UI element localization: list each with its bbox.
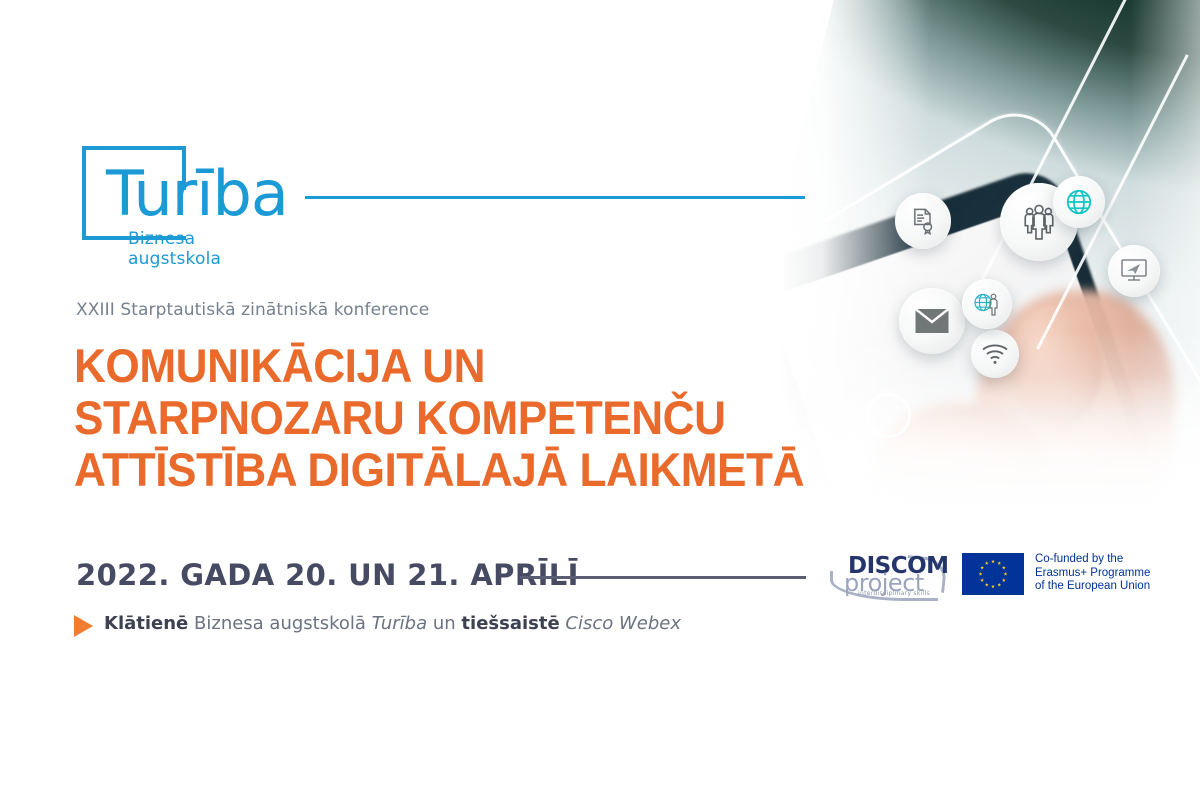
venue-onsite-place-italic: Turība (372, 613, 427, 634)
title-line-2: STARPNOZARU KOMPETENČU (74, 392, 788, 444)
thumb-shape (1006, 301, 1106, 431)
phone-screen (780, 200, 1155, 560)
conference-poster: Turība Biznesa augstskola XXIII Starptau… (0, 0, 1200, 799)
bubble-envelope (899, 288, 965, 354)
page-title: KOMUNIKĀCIJA UN STARPNOZARU KOMPETENČU A… (74, 340, 788, 496)
bubble-globe (1053, 176, 1105, 228)
outline-fade-mask (780, 375, 1200, 560)
conference-kicker: XXIII Starptautiskā zinātniskā konferenc… (76, 300, 429, 320)
venue-conjunction: un (433, 613, 456, 634)
eu-star-icon (997, 561, 1001, 565)
eu-star-icon (980, 578, 984, 582)
phone-body (780, 162, 1160, 560)
divider-dark (520, 576, 806, 579)
bubble-wifi (971, 330, 1019, 378)
eu-star-icon (985, 561, 989, 565)
eu-star-icon (1002, 566, 1006, 570)
presentation-screen-icon (1119, 257, 1149, 285)
venue-onsite-place: Biznesa augstskolā (194, 613, 366, 634)
wifi-icon (981, 343, 1009, 365)
venue-online-platform: Cisco Webex (565, 613, 681, 634)
eu-star-icon (1002, 578, 1006, 582)
phone-home-button-outline (858, 385, 920, 447)
eu-text-line-2: Erasmus+ Programme (1035, 567, 1150, 581)
venue-online-label: tiešsaistē (461, 613, 559, 634)
globe-icon (1064, 187, 1094, 217)
globe-person-icon (972, 290, 1002, 318)
discom-project-logo: DISCOM project interdisciplinary skills (830, 549, 946, 605)
eu-star-icon (980, 566, 984, 570)
hand-shape-lower (858, 387, 1060, 560)
divider-blue (305, 196, 805, 199)
eu-star-icon (997, 583, 1001, 587)
eu-flag-icon (962, 553, 1024, 595)
eu-star-icon (985, 583, 989, 587)
venue-onsite-label: Klātienē (104, 613, 188, 634)
title-line-3: ATTĪSTĪBA DIGITĀLAJĀ LAIKMETĀ (74, 444, 788, 496)
eu-star-icon (991, 585, 995, 589)
certificate-document-icon (909, 207, 937, 235)
eu-star-icon (979, 572, 983, 576)
play-triangle-icon (74, 615, 93, 637)
bubble-globe-person (962, 279, 1012, 329)
envelope-icon (914, 307, 950, 335)
eu-funding-text: Co-funded by the Erasmus+ Programme of t… (1035, 553, 1150, 594)
venue-line: Klātienē Biznesa augstskolā Turība un ti… (104, 613, 681, 634)
eu-star-icon (991, 560, 995, 564)
title-line-1: KOMUNIKĀCIJA UN (74, 340, 788, 392)
eu-erasmus-logo: Co-funded by the Erasmus+ Programme of t… (962, 553, 1150, 595)
logo-wordmark: Turība (106, 163, 288, 225)
eu-star-icon (1004, 572, 1008, 576)
discom-tagline: interdisciplinary skills (858, 590, 930, 597)
bubble-certificate-document (895, 193, 951, 249)
eu-text-line-1: Co-funded by the (1035, 553, 1150, 567)
turiba-logo: Turība Biznesa augstskola (76, 143, 276, 253)
event-date: 2022. GADA 20. UN 21. APRĪLĪ (76, 558, 579, 592)
logo-subtitle: Biznesa augstskola (128, 229, 276, 269)
bubble-presentation-screen (1108, 245, 1160, 297)
hand-shape (975, 290, 1175, 540)
eu-text-line-3: of the European Union (1035, 580, 1150, 594)
